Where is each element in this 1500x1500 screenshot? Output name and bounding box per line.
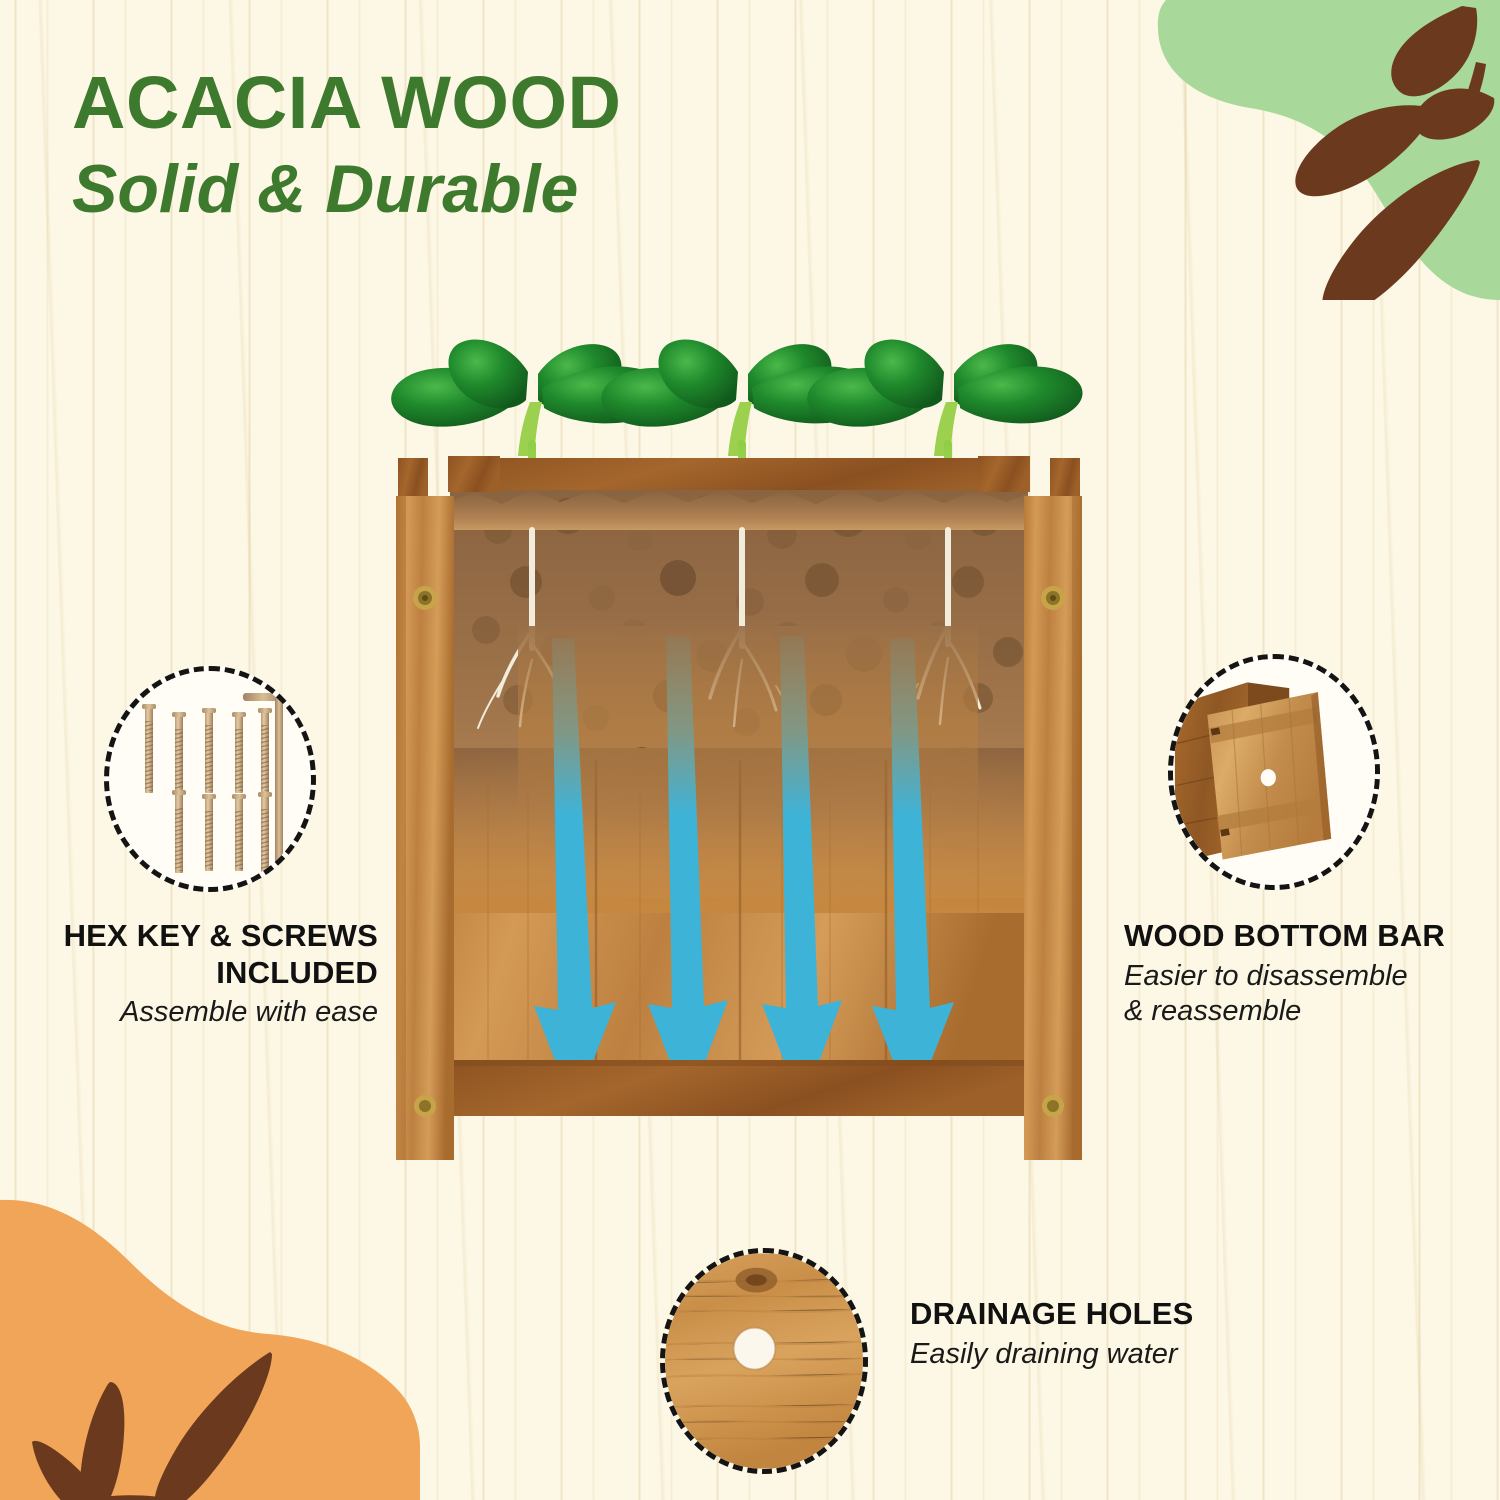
infographic-page: ACACIA WOOD Solid & Durable <box>0 0 1500 1500</box>
top-right-leaf-decoration <box>1080 0 1500 300</box>
callout-title-line1: WOOD BOTTOM BAR <box>1124 918 1494 955</box>
headline-primary: ACACIA WOOD <box>72 66 621 140</box>
drainage-hole-wood-icon <box>665 1253 863 1469</box>
callout-drainage-holes: DRAINAGE HOLES Easily draining water <box>910 1296 1310 1372</box>
callout-subtitle: Easily draining water <box>910 1337 1310 1372</box>
removable-bottom-panel <box>1207 692 1331 860</box>
wood-bottom-bar-badge <box>1168 654 1380 890</box>
callout-subtitle: Assemble with ease <box>18 995 378 1030</box>
seedlings-and-roots-group <box>378 330 1100 1230</box>
hex-key-screws-badge <box>104 666 316 892</box>
hex-key-shaft <box>275 693 283 867</box>
callout-subtitle-line2: & reassemble <box>1124 994 1494 1029</box>
headline-secondary: Solid & Durable <box>72 154 621 225</box>
headline-block: ACACIA WOOD Solid & Durable <box>72 66 621 225</box>
callout-wood-bottom-bar: WOOD BOTTOM BAR Easier to disassemble & … <box>1124 918 1494 1029</box>
callout-subtitle-line1: Easier to disassemble <box>1124 959 1494 994</box>
planter-bottom-rail <box>450 1060 1028 1116</box>
drainage-hole-badge <box>660 1248 868 1474</box>
callout-hex-key-screws: HEX KEY & SCREWS INCLUDED Assemble with … <box>18 918 378 1031</box>
wood-bottom-panel-icon <box>1173 659 1375 885</box>
panel-drainage-hole <box>1261 769 1276 786</box>
screws-and-hex-key-icon <box>109 671 311 887</box>
callout-title-line1: HEX KEY & SCREWS <box>18 918 378 955</box>
bottom-left-leaf-decoration <box>0 1180 420 1500</box>
planter-box-illustration <box>378 330 1100 1230</box>
callout-title-line2: INCLUDED <box>18 955 378 992</box>
callout-title-line1: DRAINAGE HOLES <box>910 1296 1310 1333</box>
